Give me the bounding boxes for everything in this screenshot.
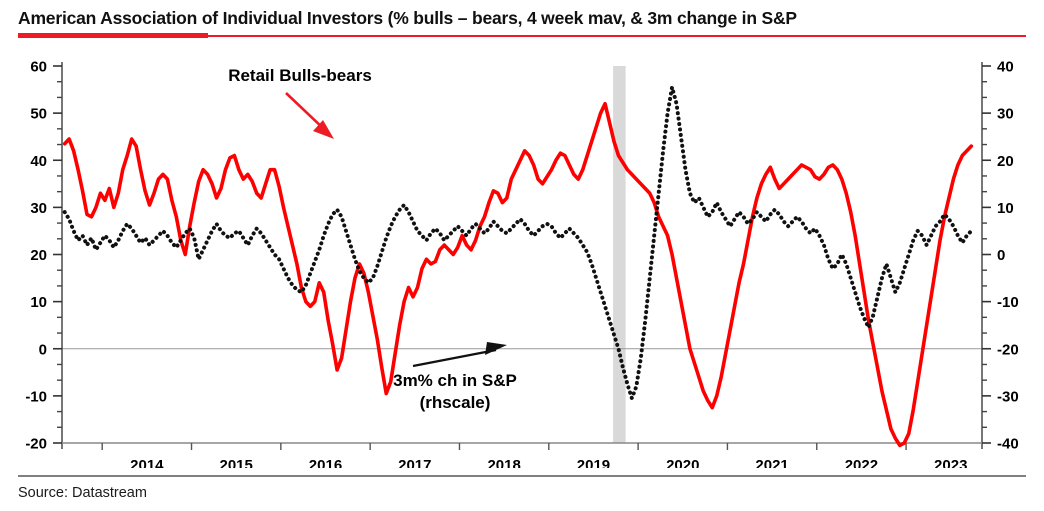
right-axis-tick-label: 40 [997,59,1014,76]
title-block: American Association of Individual Inves… [18,6,1034,39]
x-axis-tick-label: 2019 [577,457,610,468]
source-label: Source: Datastream [18,485,1026,501]
right-axis-tick-label: -20 [997,341,1019,358]
shaded-recession-band [613,66,626,443]
x-axis-tick-label: 2014 [130,457,164,468]
right-axis-tick-label: 10 [997,200,1014,217]
x-axis-tick-label: 2020 [666,457,699,468]
left-axis-tick-label: 20 [30,247,47,264]
footer: Source: Datastream [18,475,1026,501]
annotation-sp500-label-line1: 3m% ch in S&P [393,371,517,390]
right-axis-tick-label: 0 [997,247,1005,264]
right-axis-tick-label: 30 [997,106,1014,123]
title-underline [18,33,1026,39]
left-axis-tick-label: 30 [30,200,47,217]
chart-plot-area: 6050403020100-10-20403020100-10-20-30-40… [0,48,1044,468]
annotation-retail-bulls-bears-label: Retail Bulls-bears [228,66,372,85]
left-axis-tick-label: -10 [25,388,47,405]
right-axis-tick-label: -10 [997,294,1019,311]
left-axis-tick-label: 50 [30,106,47,123]
series-line-sp500-3m-change [65,87,972,398]
left-axis-tick-label: 60 [30,59,47,76]
right-axis-tick-label: -30 [997,388,1019,405]
series-line-retail-bulls-bears [65,104,972,446]
x-axis-tick-label: 2023 [934,457,967,468]
right-axis-tick-label: -40 [997,436,1019,453]
left-axis-tick-label: 10 [30,294,47,311]
annotation-sp500-label-line2: (rhscale) [420,393,491,412]
x-axis-tick-label: 2015 [219,457,252,468]
x-axis-tick-label: 2021 [755,457,788,468]
x-axis-tick-label: 2022 [845,457,878,468]
left-axis-tick-label: 40 [30,153,47,170]
footer-divider [18,475,1026,477]
left-axis-tick-label: 0 [39,341,47,358]
title-underline-thick [18,33,208,38]
right-axis-tick-label: 20 [997,153,1014,170]
chart-page: American Association of Individual Inves… [0,0,1044,511]
x-axis-tick-label: 2017 [398,457,431,468]
left-axis-tick-label: -20 [25,436,47,453]
page-title: American Association of Individual Inves… [18,6,1034,30]
x-axis-tick-label: 2016 [309,457,342,468]
annotation-black-arrow-shaft [413,350,496,366]
chart-svg: 6050403020100-10-20403020100-10-20-30-40… [0,48,1044,468]
x-axis-tick-label: 2018 [487,457,520,468]
